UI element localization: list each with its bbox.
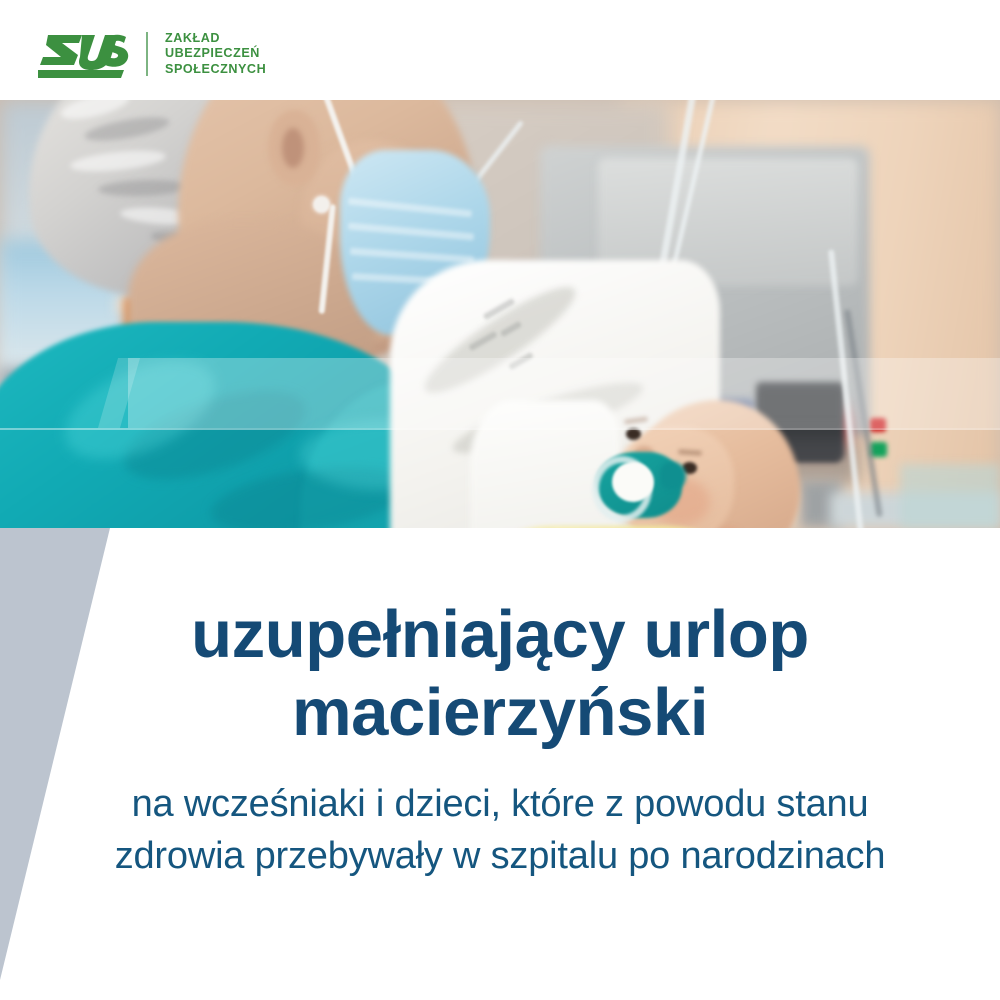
zus-logo[interactable]: ZAKŁAD UBEZPIECZEŃ SPOŁECZNYCH: [38, 26, 266, 82]
message-block: uzupełniający urlop macierzyński na wcze…: [0, 596, 1000, 882]
photo-nurse-earring: [313, 196, 330, 213]
photo-pacifier-knob: [612, 462, 654, 502]
zus-poster: ZAKŁAD UBEZPIECZEŃ SPOŁECZNYCH: [0, 0, 1000, 1000]
subheadline-line-1: na wcześniaki i dzieci, które z powodu s…: [60, 778, 940, 830]
photo-nurse-ear-inner: [282, 128, 304, 168]
photo-baby-eye: [626, 428, 641, 440]
zus-wordmark-icon: [38, 29, 130, 79]
photo-incubator-glass: [900, 464, 1000, 528]
photo-monitor-red-lamp: [870, 418, 886, 432]
logo-name-line-3: SPOŁECZNYCH: [165, 62, 266, 78]
header-bar: ZAKŁAD UBEZPIECZEŃ SPOŁECZNYCH: [0, 0, 1000, 100]
page-title: uzupełniający urlop macierzyński: [120, 596, 880, 752]
subheadline-line-2: zdrowia przebywały w szpitalu po narodzi…: [60, 830, 940, 882]
logo-divider: [146, 32, 148, 76]
logo-name-line-1: ZAKŁAD: [165, 31, 266, 47]
hero-photo: [0, 100, 1000, 528]
photo-pacifier-teat: [660, 462, 686, 490]
page-subtitle: na wcześniaki i dzieci, które z powodu s…: [60, 778, 940, 882]
headline-line-1: uzupełniający urlop: [120, 596, 880, 674]
headline-line-2: macierzyński: [120, 674, 880, 752]
logo-fullname: ZAKŁAD UBEZPIECZEŃ SPOŁECZNYCH: [165, 31, 266, 78]
logo-name-line-2: UBEZPIECZEŃ: [165, 46, 266, 62]
